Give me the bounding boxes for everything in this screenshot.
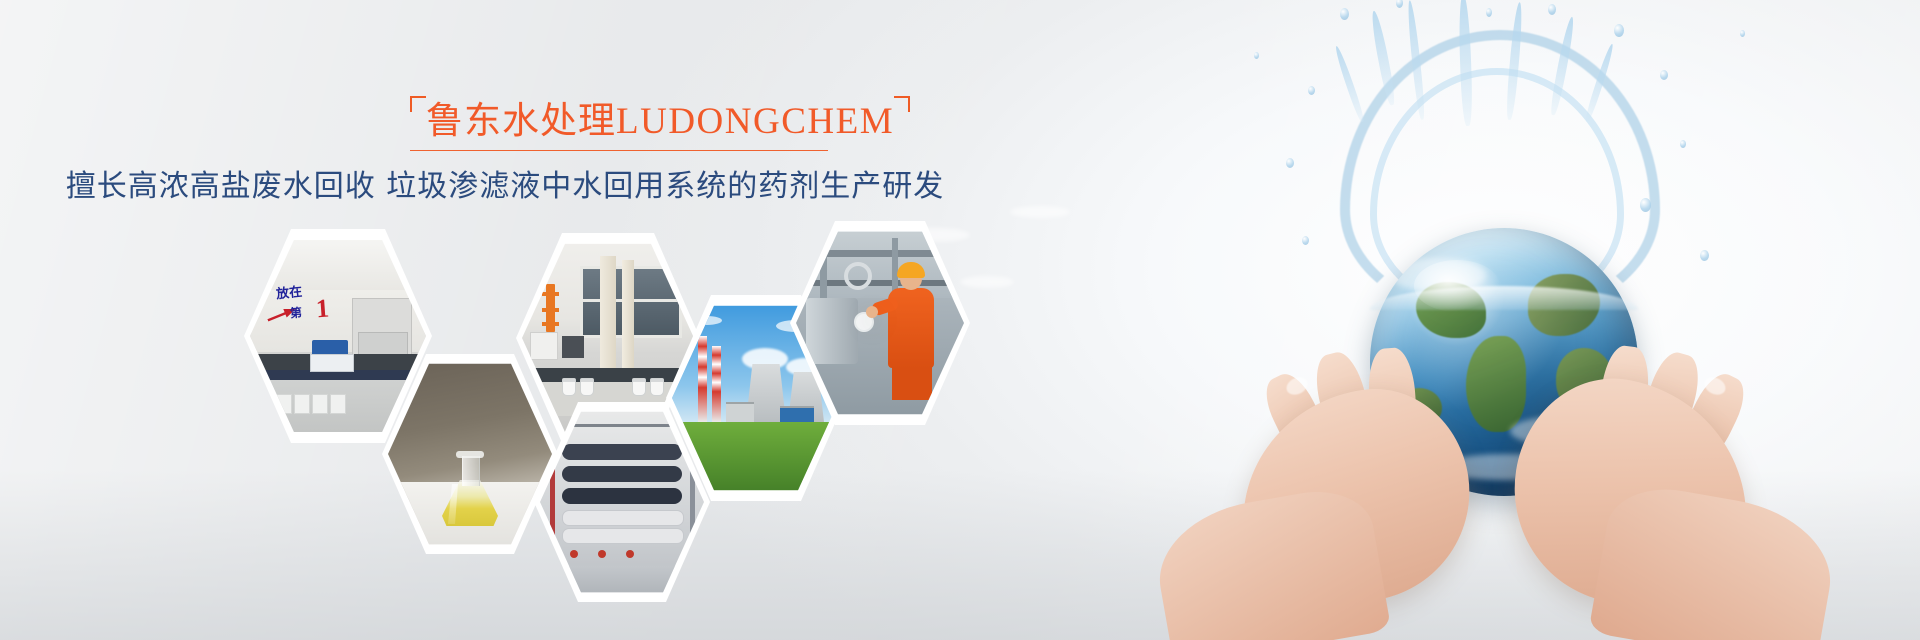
bench-instrument-dark [562,336,584,358]
water-droplet-icon [1614,24,1624,37]
landmass [1528,274,1600,336]
right-wrist [1588,479,1841,640]
water-droplet-icon [1340,8,1349,20]
water-droplet-icon [1254,52,1259,59]
membrane-vessel [562,510,684,526]
finger [1593,344,1653,463]
water-droplet-icon [1286,158,1294,168]
lab-container [312,394,328,414]
water-droplet-icon [1396,0,1403,8]
globe-cloud [1390,258,1486,292]
water-droplet-icon [1680,140,1686,148]
process-tank [806,298,858,364]
landmass [1466,336,1526,432]
flask-lip [456,451,484,458]
water-spike [1584,43,1616,123]
worker-legs [892,364,932,400]
globe-cloud [1510,416,1620,446]
water-spike [1458,0,1474,126]
landmass [1556,348,1614,414]
water-droplet-icon [1660,70,1668,80]
glassware-icon [632,378,646,396]
valve-icon [598,550,606,558]
landmass [1396,388,1442,428]
finger [1366,347,1420,466]
water-droplet-icon [1308,86,1315,95]
worker-hand [866,306,878,318]
banner-subtitle: 擅长高浓高盐废水回收 垃圾渗滤液中水回用系统的药剂生产研发 [0,167,1010,207]
water-droplet-icon [1640,198,1651,212]
valve-wheel-icon [844,262,872,290]
landmass [1416,282,1486,338]
valve-icon [626,550,634,558]
hexagon-photo-cluster: 放在 第 1 [250,218,990,518]
water-spike [1549,16,1577,116]
water-globe-artwork [1040,0,1920,640]
banner-text-block: 鲁东水处理LUDONGCHEM 擅长高浓高盐废水回收 垃圾渗滤液中水回用系统的药… [0,96,1060,207]
wall-slogan-number: 1 [315,294,330,325]
distillation-column [600,256,616,376]
finger [1671,367,1753,473]
title-underline [410,150,828,151]
globe-specular-highlight [1414,260,1500,312]
lab-container [330,394,346,414]
water-spike [1406,0,1426,120]
glassware-icon [650,378,664,396]
finger [1309,348,1381,468]
glassware-icon [580,378,594,396]
smokestack [712,346,721,422]
water-splash-crown-inner [1370,68,1624,312]
water-droplet-icon [1486,8,1492,17]
water-droplet-icon [1740,30,1745,37]
water-spike [1333,45,1366,123]
glassware-icon [562,378,576,396]
lab-instrument-white [310,354,354,372]
brand-title-cn: 鲁东水处理 [426,101,616,142]
distillation-column [622,260,634,372]
right-hand [1498,365,1766,621]
water-droplet-icon [1302,236,1309,245]
membrane-vessel [562,528,684,544]
water-splash-crown [1340,30,1660,320]
lab-bench-top [526,368,690,382]
fingernail [1702,374,1729,398]
water-spike [1369,10,1397,106]
lab-container [294,394,310,414]
globe-cloud [1440,454,1570,480]
valve-icon [570,550,578,558]
wall-slogan-top: 放在 [275,281,303,303]
plant-building [726,402,754,424]
fingernail [1284,374,1311,398]
water-droplet-icon [1700,250,1709,261]
wall-slogan-mid: 第 [289,304,302,322]
water-droplet-icon [1548,4,1556,15]
bench-instrument [530,332,558,360]
page-title: 鲁东水处理LUDONGCHEM [426,100,894,144]
membrane-vessel [562,466,682,482]
left-wrist [1149,482,1392,640]
membrane-vessel [562,488,682,504]
smokestack [698,336,707,422]
globe-waterline [1370,286,1638,310]
brand-title-en: LUDONGCHEM [616,101,894,142]
wall-slogan: 放在 第 1 [264,282,350,328]
left-hand [1227,377,1484,617]
water-spike [1505,2,1524,120]
finger [1632,348,1706,464]
water-wisp-icon [1010,206,1070,218]
brand-title-frame: 鲁东水处理LUDONGCHEM [410,96,910,150]
membrane-vessel [562,444,682,460]
finger [1257,367,1339,473]
flask-neck [462,456,480,486]
orange-stand-icon [546,284,555,332]
earth-globe-icon [1370,228,1638,496]
hero-banner: 鲁东水处理LUDONGCHEM 擅长高浓高盐废水回收 垃圾渗滤液中水回用系统的药… [0,0,1920,640]
